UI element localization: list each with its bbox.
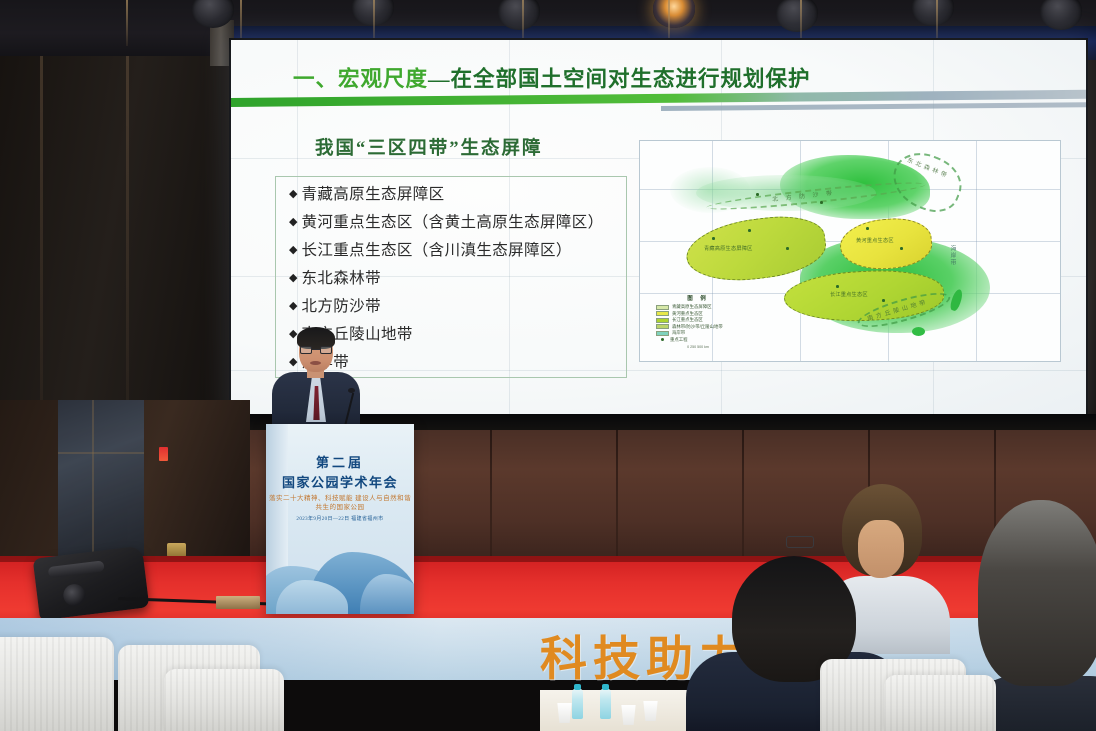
- diamond-bullet-icon: ◆: [289, 217, 297, 228]
- legend-swatch: [656, 318, 669, 323]
- diamond-bullet-icon: ◆: [289, 301, 297, 312]
- hainan-island: [912, 327, 925, 336]
- map-coast-label: 海岸带: [948, 245, 957, 266]
- presenter-mouth: [310, 361, 321, 365]
- water-bottle: [600, 689, 611, 719]
- podium-lectern: 第二届 国家公园学术年会 落实二十大精神、科技赋能 建设人与自然和谐共生的国家公…: [266, 424, 414, 614]
- diamond-bullet-icon: ◆: [289, 245, 297, 256]
- podium-subtitle: 落实二十大精神、科技赋能 建设人与自然和谐共生的国家公园: [266, 494, 414, 512]
- legend-title: 图 例: [656, 294, 740, 302]
- list-item: ◆ 黄河重点生态区（含黄土高原生态屏障区）: [289, 210, 659, 238]
- legend-swatch: [656, 331, 669, 336]
- slide-title: 一、宏观尺度—在全部国土空间对生态进行规划保护: [293, 62, 1053, 93]
- legend-label: 青藏高原生态屏障区: [672, 304, 712, 310]
- china-ecological-map: 青藏高原生态屏障区 黄河重点生态区 长江重点生态区 北 方 防 沙 带 东北森林…: [639, 140, 1061, 362]
- bullet-label: 东北森林带: [301, 266, 381, 288]
- podium-mountain-artwork: [266, 528, 414, 614]
- slide-title-green: 一、宏观尺度: [293, 67, 428, 91]
- legend-label: 长江重点生态区: [672, 317, 703, 323]
- legend-swatch: [656, 324, 669, 329]
- legend-dot-icon: [661, 338, 664, 341]
- audience-chair: [0, 637, 114, 731]
- list-item: ◆ 南方丘陵山地带: [289, 322, 659, 350]
- list-item: ◆ 长江重点生态区（含川滇生态屏障区）: [289, 238, 659, 266]
- side-door-panel: [58, 400, 144, 562]
- audience-chair: [884, 675, 996, 731]
- diamond-bullet-icon: ◆: [289, 273, 297, 284]
- speaker-grill: [48, 560, 105, 578]
- podium-line1: 第二届: [266, 452, 414, 471]
- list-item: ◆ 北方防沙带: [289, 294, 659, 322]
- slide-subheading: 我国“三区四带”生态屏障: [315, 134, 543, 160]
- bullet-label: 黄河重点生态区（含黄土高原生态屏障区）: [301, 210, 603, 232]
- microphone-icon: [348, 388, 355, 393]
- legend-label: 海岸带: [672, 330, 685, 336]
- bullet-label: 青藏高原生态屏障区: [301, 182, 444, 204]
- water-bottle: [572, 689, 583, 719]
- list-item: ◆ 东北森林带: [289, 266, 659, 294]
- speaker-driver-icon: [62, 583, 87, 608]
- exit-sign-icon: [159, 447, 168, 461]
- cardboard-box: [216, 596, 260, 609]
- map-zone-label: 黄河重点生态区: [856, 237, 894, 244]
- stage-edge-shadow: [0, 556, 1096, 562]
- audience-chair: [164, 669, 284, 731]
- map-zone-label: 青藏高原生态屏障区: [704, 245, 753, 252]
- bullet-list: ◆ 青藏高原生态屏障区 ◆ 黄河重点生态区（含黄土高原生态屏障区） ◆ 长江重点…: [289, 182, 659, 378]
- legend-scale: 0 250 500 km: [656, 345, 740, 349]
- list-item: ◆ 青藏高原生态屏障区: [289, 182, 659, 210]
- bullet-label: 北方防沙带: [301, 294, 381, 316]
- bullet-label: 长江重点生态区（含川滇生态屏障区）: [301, 238, 571, 260]
- legend-label: 黄河重点生态区: [672, 311, 703, 317]
- podium-date: 2023年9月20日—22日 福建省福州市: [266, 516, 414, 524]
- legend-item: 重点工程: [656, 337, 740, 344]
- legend-swatch: [656, 311, 669, 316]
- legend-swatch: [656, 305, 669, 310]
- podium-line2: 国家公园学术年会: [266, 472, 414, 491]
- glasses-icon: [786, 536, 814, 548]
- wall-socket-icon: [167, 543, 186, 557]
- conference-hall-scene: 一、宏观尺度—在全部国土空间对生态进行规划保护 我国“三区四带”生态屏障 ◆ 青…: [0, 0, 1096, 731]
- glasses-icon: [300, 346, 332, 354]
- legend-label: 重点工程: [670, 337, 688, 343]
- diamond-bullet-icon: ◆: [289, 189, 297, 200]
- map-legend: 图 例 青藏高原生态屏障区 黄河重点生态区 长江重点生态区 森林带/防沙带/丘陵…: [656, 294, 740, 349]
- diamond-bullet-icon: ◆: [289, 357, 297, 368]
- slide-title-dark: —在全部国土空间对生态进行规划保护: [428, 67, 811, 91]
- legend-label: 森林带/防沙带/丘陵山地带: [672, 324, 723, 330]
- map-zone-label: 长江重点生态区: [830, 291, 868, 298]
- title-underline-shadow: [661, 102, 1086, 111]
- projection-screen: 一、宏观尺度—在全部国土空间对生态进行规划保护 我国“三区四带”生态屏障 ◆ 青…: [231, 40, 1086, 416]
